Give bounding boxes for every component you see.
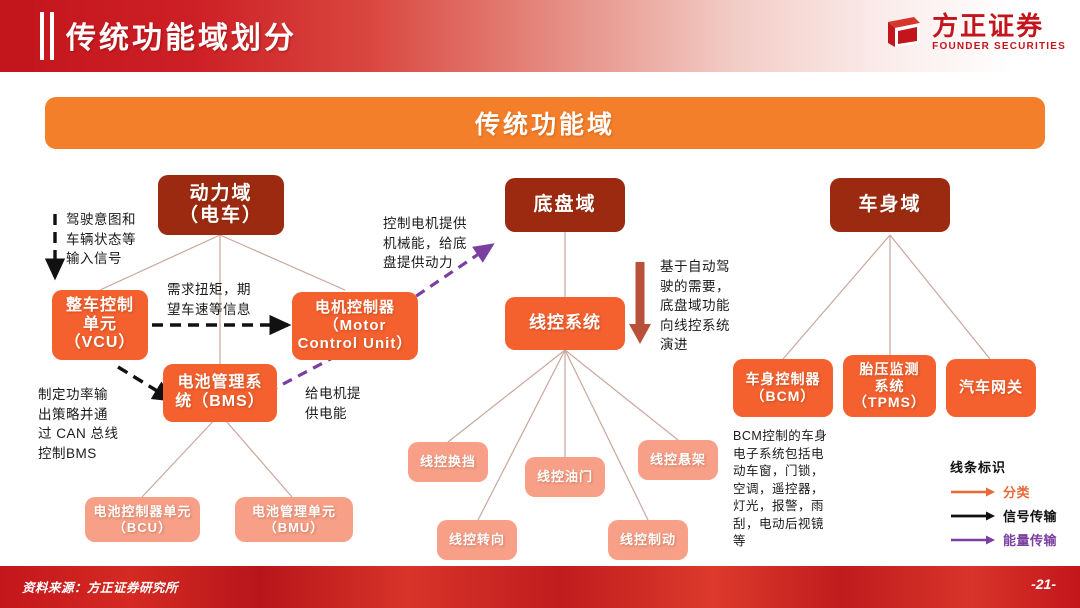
node-chassis-domain[interactable]: 底盘域 <box>505 178 625 232</box>
header-accent-bar <box>0 0 34 72</box>
section-banner-label: 传统功能域 <box>475 105 615 141</box>
note-mechanical-energy: 控制电机提供 机械能，给底 盘提供动力 <box>383 214 495 273</box>
legend-label: 能量传输 <box>1003 530 1057 549</box>
node-tpms[interactable]: 胎压监测 系统 （TPMS） <box>843 355 936 417</box>
legend: 线条标识 分类 信号传输 能量传输 <box>950 457 1057 554</box>
legend-title: 线条标识 <box>950 457 1057 476</box>
legend-item-signal: 信号传输 <box>950 506 1057 525</box>
page-title: 传统功能域划分 <box>66 13 297 57</box>
node-throttle-by-wire[interactable]: 线控油门 <box>525 457 605 497</box>
legend-label: 分类 <box>1003 482 1030 501</box>
node-label: 电机控制器 （Motor Control Unit） <box>298 299 413 352</box>
note-bcm-detail: BCM控制的车身 电子系统包括电 动车窗，门锁， 空调，遥控器， 灯光，报警，雨… <box>733 428 853 551</box>
note-power-strategy: 制定功率输 出策略并通 过 CAN 总线 控制BMS <box>38 385 143 463</box>
header-tick-inner <box>50 12 54 60</box>
node-label: 整车控制 单元 （VCU） <box>65 297 136 354</box>
brand-logo: 方正证券 FOUNDER SECURITIES <box>884 12 1066 53</box>
node-label: 线控油门 <box>537 469 593 484</box>
node-label: 线控系统 <box>529 313 601 333</box>
node-bcm[interactable]: 车身控制器 （BCM） <box>733 359 833 417</box>
classify-arrow-icon <box>950 486 996 498</box>
node-brake-by-wire[interactable]: 线控制动 <box>608 520 688 560</box>
node-label: 电池控制器单元 （BCU） <box>93 504 191 535</box>
node-label: 车身控制器 （BCM） <box>746 371 821 404</box>
node-bcu[interactable]: 电池控制器单元 （BCU） <box>85 497 200 542</box>
diagram-canvas: 动力域 （电车） 整车控制 单元 （VCU） 电机控制器 （Motor Cont… <box>0 152 1080 556</box>
brand-name-cn: 方正证券 <box>932 12 1044 40</box>
page-footer: 资料来源：方正证券研究所 -21- <box>0 566 1080 608</box>
node-suspension-by-wire[interactable]: 线控悬架 <box>638 440 718 480</box>
node-steer-by-wire[interactable]: 线控转向 <box>437 520 517 560</box>
signal-arrow-icon <box>950 510 996 522</box>
brand-logo-text: 方正证券 FOUNDER SECURITIES <box>932 12 1066 53</box>
node-label: 线控悬架 <box>650 452 706 467</box>
source-note: 资料来源：方正证券研究所 <box>22 577 178 596</box>
node-label: 电池管理系 统（BMS） <box>175 374 265 412</box>
page-header: 传统功能域划分 方正证券 FOUNDER SECURITIES <box>0 0 1080 72</box>
founder-logo-icon <box>884 13 924 53</box>
node-bmu[interactable]: 电池管理单元 （BMU） <box>235 497 353 542</box>
note-driver-input: 驾驶意图和 车辆状态等 输入信号 <box>66 210 166 269</box>
node-shift-by-wire[interactable]: 线控换挡 <box>408 442 488 482</box>
node-body-domain[interactable]: 车身域 <box>830 178 950 232</box>
node-label: 线控转向 <box>449 532 505 547</box>
node-powertrain-domain[interactable]: 动力域 （电车） <box>158 175 284 235</box>
brand-name-en: FOUNDER SECURITIES <box>932 40 1066 53</box>
note-torque-request: 需求扭矩，期 望车速等信息 <box>167 280 287 319</box>
node-vcu[interactable]: 整车控制 单元 （VCU） <box>52 290 148 360</box>
legend-label: 信号传输 <box>1003 506 1057 525</box>
section-banner: 传统功能域 <box>45 97 1045 149</box>
node-label: 汽车网关 <box>959 379 1023 397</box>
node-label: 线控换挡 <box>420 454 476 469</box>
node-motor-control-unit[interactable]: 电机控制器 （Motor Control Unit） <box>292 292 418 360</box>
node-label: 车身域 <box>858 194 921 216</box>
energy-arrow-icon <box>950 534 996 546</box>
page-number: -21- <box>1031 576 1056 592</box>
node-label: 动力域 （电车） <box>179 183 263 228</box>
node-label: 底盘域 <box>533 194 596 216</box>
node-xbw-system[interactable]: 线控系统 <box>505 297 625 350</box>
node-label: 电池管理单元 （BMU） <box>252 504 336 535</box>
node-bms[interactable]: 电池管理系 统（BMS） <box>163 364 277 422</box>
note-chassis-evolution: 基于自动驾 驶的需要， 底盘域功能 向线控系统 演进 <box>660 257 750 355</box>
header-tick-outer <box>40 12 44 60</box>
node-label: 线控制动 <box>620 532 676 547</box>
node-label: 胎压监测 系统 （TPMS） <box>853 361 926 411</box>
node-automotive-gateway[interactable]: 汽车网关 <box>946 359 1036 417</box>
legend-item-classify: 分类 <box>950 482 1057 501</box>
chassis-evolution-arrow <box>629 262 651 344</box>
legend-item-energy: 能量传输 <box>950 530 1057 549</box>
note-supply-power: 给电机提 供电能 <box>305 384 385 423</box>
